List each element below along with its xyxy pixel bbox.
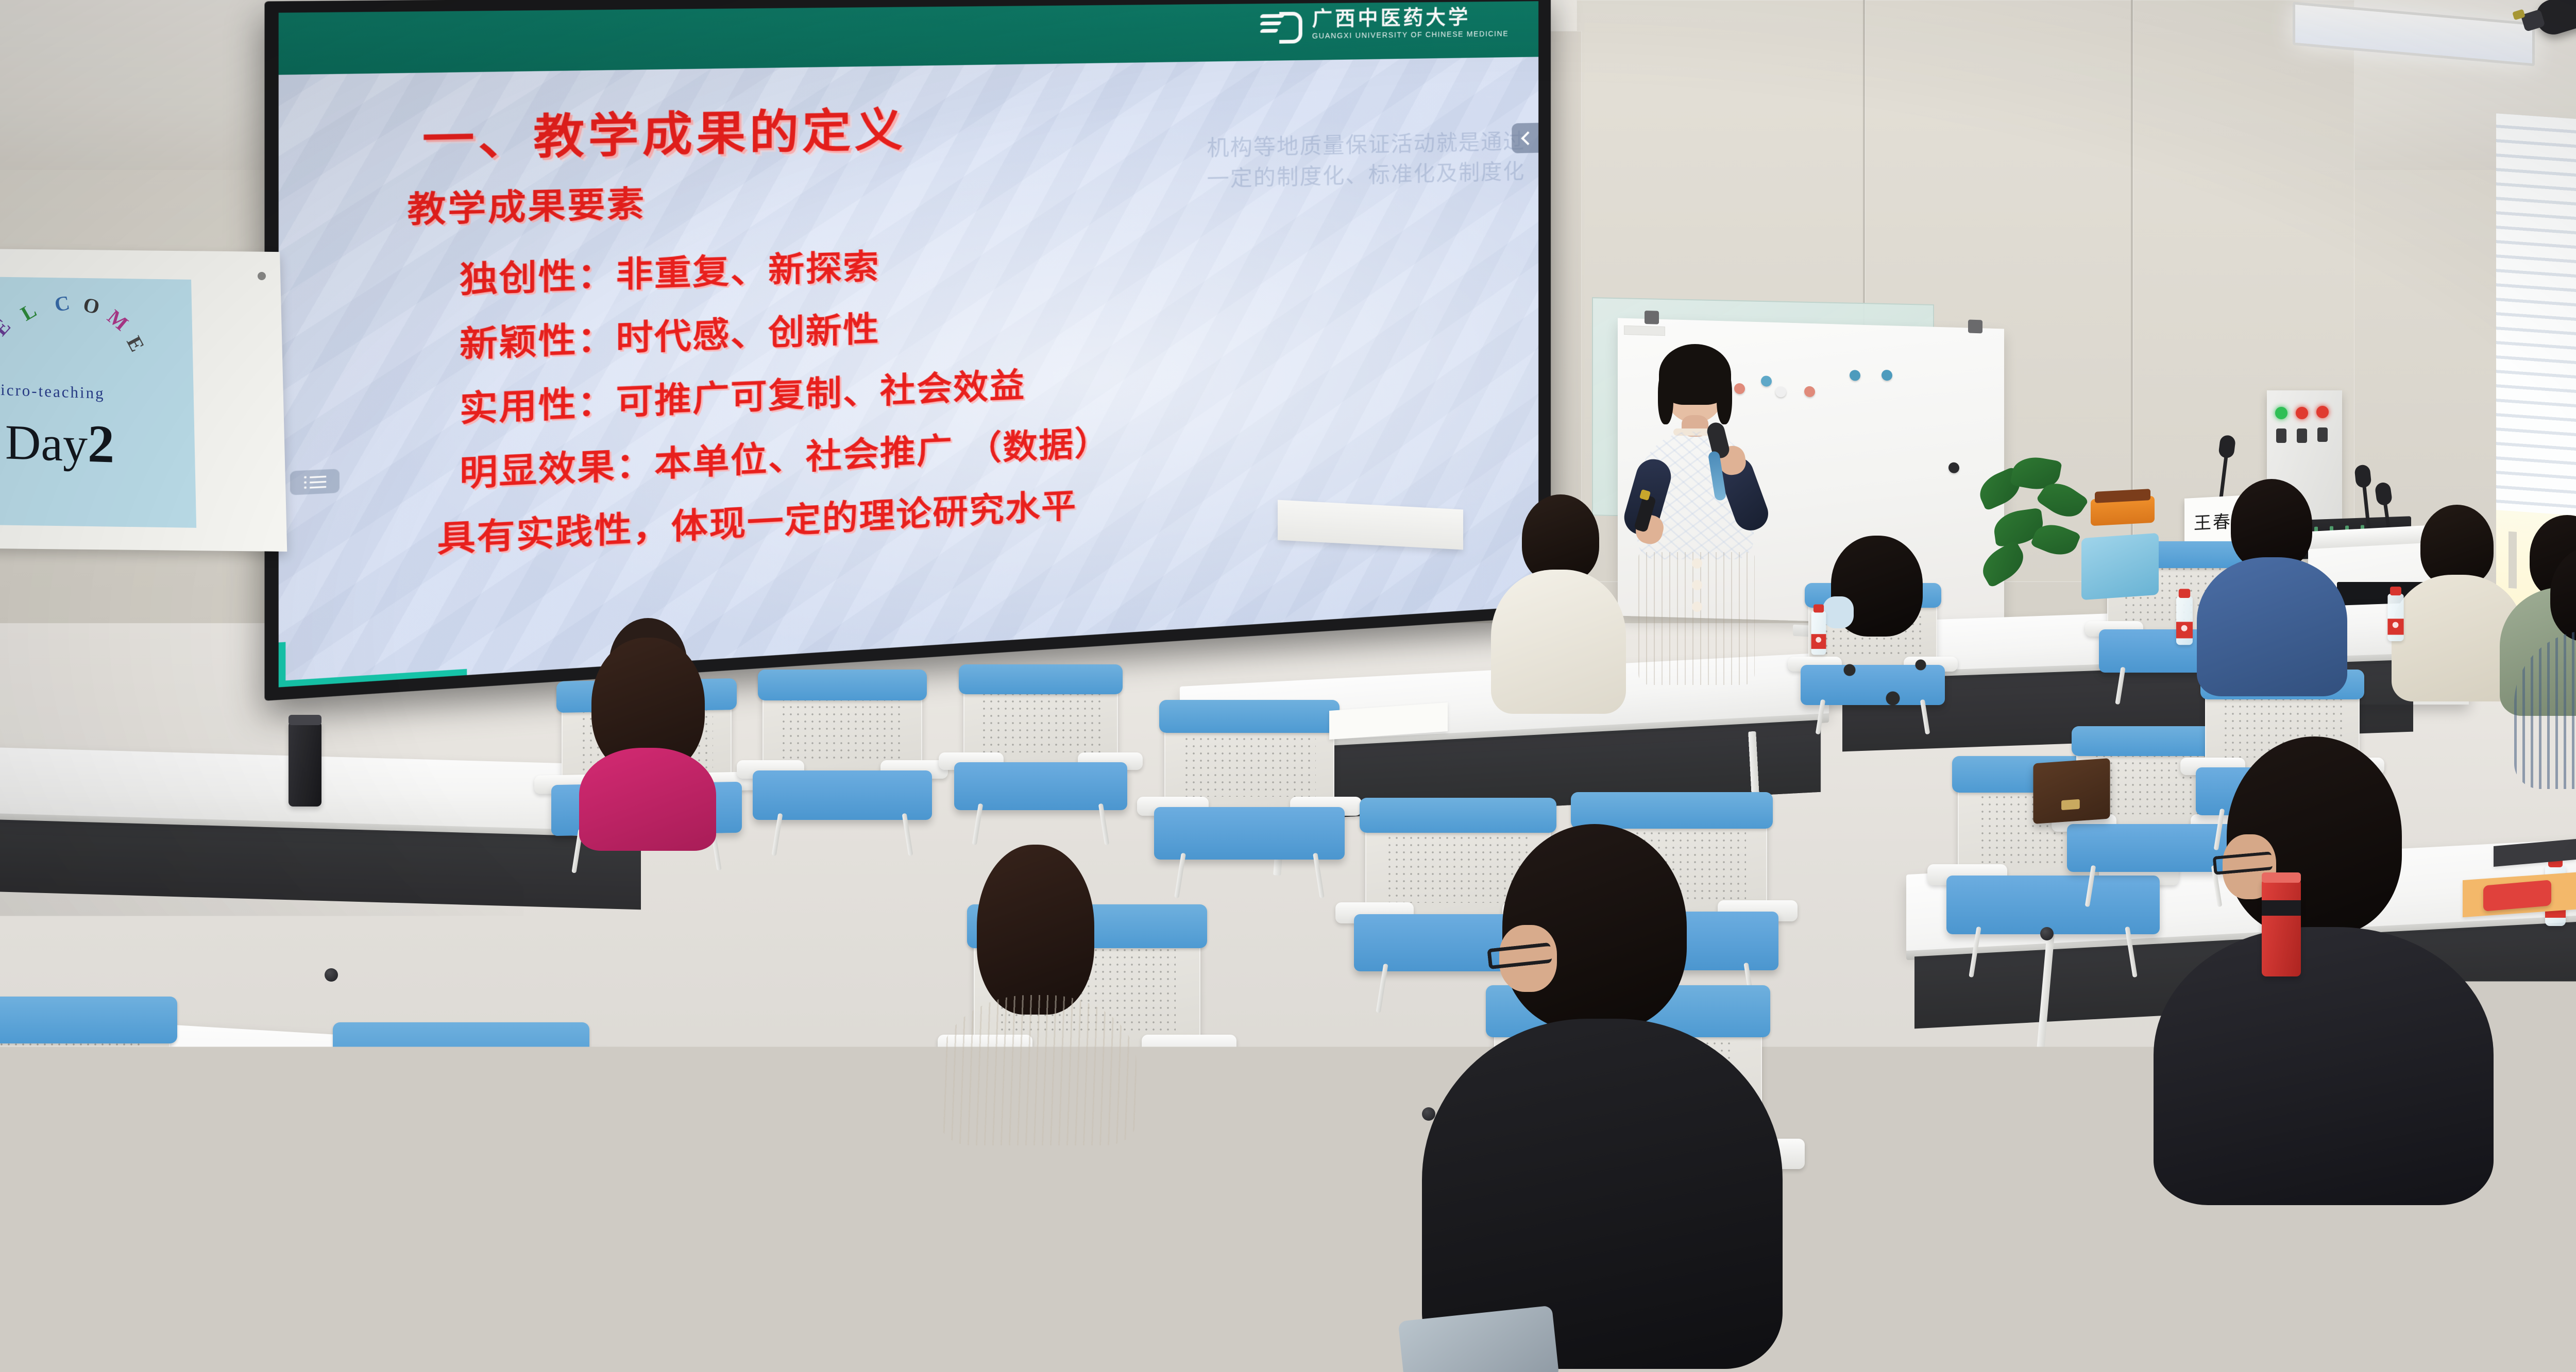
university-emblem-icon (1261, 9, 1302, 41)
slide-lead: 教学成果要素 (408, 155, 1518, 232)
audience-top (0, 1324, 180, 1372)
handbag (2033, 758, 2110, 824)
chair[interactable] (963, 670, 1118, 829)
slide-corner-accent (279, 631, 467, 687)
welcome-letter: E (0, 314, 15, 340)
list-menu-icon[interactable] (290, 469, 340, 495)
audience-top (940, 995, 1137, 1145)
toggle-switch[interactable] (2276, 428, 2286, 443)
water-bottle (1811, 611, 1826, 655)
audience-member (2514, 546, 2576, 788)
display-screen[interactable]: 广西中医药大学 GUANGXI UNIVERSITY OF CHINESE ME… (279, 1, 1538, 687)
poster-day-number: 2 (88, 414, 114, 474)
welcome-letter: C (53, 290, 72, 317)
audience-member (670, 1179, 958, 1372)
welcome-arc-text: W E L C O M E (0, 284, 191, 367)
poster-day-word: Day (5, 414, 88, 472)
water-bottle (2176, 596, 2193, 645)
chevron-left-icon[interactable] (1512, 123, 1538, 153)
university-name-en: GUANGXI UNIVERSITY OF CHINESE MEDICINE (1312, 29, 1509, 40)
presenter-hair-side (1717, 371, 1732, 424)
thermos-black (289, 721, 321, 807)
toggle-switch[interactable] (2297, 428, 2307, 443)
audience-top (2514, 630, 2576, 789)
chair[interactable] (1164, 706, 1334, 881)
skirt-buttons (1692, 558, 1702, 569)
whiteboard-clip (1645, 311, 1659, 324)
audience-top (579, 748, 716, 851)
audience-member (0, 1159, 185, 1372)
cloth-bag (2081, 533, 2159, 600)
poster-day-label: Day2 (5, 410, 114, 475)
audience-hair (1522, 494, 1599, 582)
presenter-skirt (1638, 552, 1755, 685)
audience-member (1422, 824, 1793, 1370)
magnet-icon[interactable] (1850, 370, 1860, 381)
magnet-icon[interactable] (1882, 370, 1892, 381)
audience-hair (726, 1179, 891, 1349)
chair-caster (325, 968, 338, 982)
slide-canvas: 机构等地质量保证活动就是通过一定的制度化、标准化及制度化 一、教学成果的定义 教… (279, 57, 1538, 687)
face-mask (1823, 596, 1854, 628)
audience-member (2195, 479, 2349, 695)
audience-member (562, 613, 732, 829)
magnet-icon[interactable] (1775, 386, 1786, 398)
chair[interactable] (340, 1030, 582, 1282)
audience-member (1484, 494, 1633, 711)
audience-member (2154, 736, 2504, 1200)
audience-top (2154, 927, 2494, 1205)
magnet-icon[interactable] (1948, 462, 1959, 473)
audience-hair (977, 845, 1094, 1015)
audience-top (680, 1334, 948, 1372)
status-led-red (2316, 406, 2329, 418)
presentation-display[interactable]: 广西中医药大学 GUANGXI UNIVERSITY OF CHINESE ME… (264, 0, 1551, 701)
thermos-red (2262, 879, 2301, 976)
audience-hair (2231, 479, 2312, 570)
magnet-icon[interactable] (1804, 386, 1815, 398)
status-led-green (2275, 407, 2287, 419)
audience-hair (0, 1159, 139, 1344)
welcome-letter: E (122, 332, 149, 356)
audience-hair (2550, 546, 2576, 642)
presenter (1618, 350, 1772, 649)
chair[interactable] (762, 675, 922, 839)
whiteboard-clip (1968, 320, 1982, 334)
thermos-lid (2262, 872, 2301, 883)
potted-plant (1973, 453, 2092, 608)
water-bottle (2387, 594, 2403, 641)
university-logo: 广西中医药大学 GUANGXI UNIVERSITY OF CHINESE ME… (1261, 7, 1509, 41)
audience-top (1491, 570, 1626, 714)
welcome-letter: O (81, 292, 101, 319)
classroom-photo-scene: 广西中医药大学 GUANGXI UNIVERSITY OF CHINESE ME… (0, 0, 2576, 1372)
welcome-letter: M (103, 304, 133, 335)
audience-hair (2420, 505, 2494, 586)
whiteboard-label-strip (1624, 325, 1665, 336)
slide-title: 一、教学成果的定义 (422, 93, 907, 170)
audience-top (1803, 626, 1958, 755)
audience-top (2197, 557, 2347, 696)
audience-member (927, 845, 1149, 1133)
poster-subtitle: micro-teaching (0, 380, 105, 403)
thermos-lid (289, 715, 321, 725)
presenter-hair-side (1658, 371, 1673, 424)
toggle-switch[interactable] (2317, 427, 2328, 442)
orange-tray (2091, 496, 2155, 526)
university-name-cn: 广西中医药大学 (1312, 7, 1509, 29)
poster-pin-icon (258, 272, 266, 280)
welcome-letter: L (16, 298, 41, 325)
status-led-red (2296, 407, 2308, 419)
chair-caster (2040, 927, 2054, 940)
